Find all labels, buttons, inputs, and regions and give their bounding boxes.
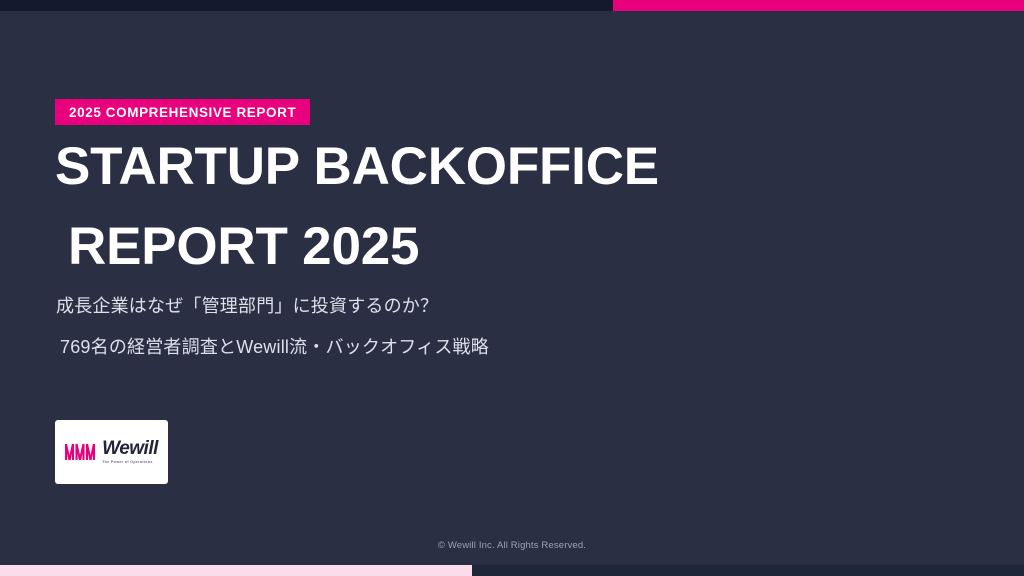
top-accent-bar-pink-segment — [613, 0, 1024, 11]
report-badge: 2025 COMPREHENSIVE REPORT — [55, 99, 310, 125]
top-accent-bar — [0, 0, 1024, 11]
wewill-logo-card: Wewill The Power of Operations — [55, 420, 168, 484]
subtitle-line-1: 成長企業はなぜ「管理部門」に投資するのか？ — [56, 292, 438, 318]
page-title-line-2: REPORT 2025 — [68, 220, 1024, 273]
bottom-accent-bar — [0, 565, 1024, 576]
wewill-logo-tagline: The Power of Operations — [102, 461, 158, 465]
wewill-logo-wordmark: Wewill — [102, 439, 158, 458]
subtitle-line-2: 769名の経営者調査とWewill流・バックオフィス戦略 — [60, 333, 489, 359]
wewill-zigzag-icon — [65, 442, 99, 462]
wewill-logo: Wewill The Power of Operations — [65, 439, 158, 464]
footer-copyright: © Wewill Inc. All Rights Reserved. — [0, 540, 1024, 551]
page-title-line-1: STARTUP BACKOFFICE — [55, 140, 1024, 193]
bottom-accent-bar-pink-segment — [0, 565, 472, 576]
title-slide: 2025 COMPREHENSIVE REPORT STARTUP BACKOF… — [0, 0, 1024, 576]
report-badge-label: 2025 COMPREHENSIVE REPORT — [69, 105, 296, 120]
bottom-accent-bar-dark-segment — [472, 565, 1024, 576]
page-title: STARTUP BACKOFFICE REPORT 2025 — [0, 140, 1024, 273]
wewill-logo-text: Wewill The Power of Operations — [102, 439, 158, 464]
top-accent-bar-dark-segment — [0, 0, 613, 11]
